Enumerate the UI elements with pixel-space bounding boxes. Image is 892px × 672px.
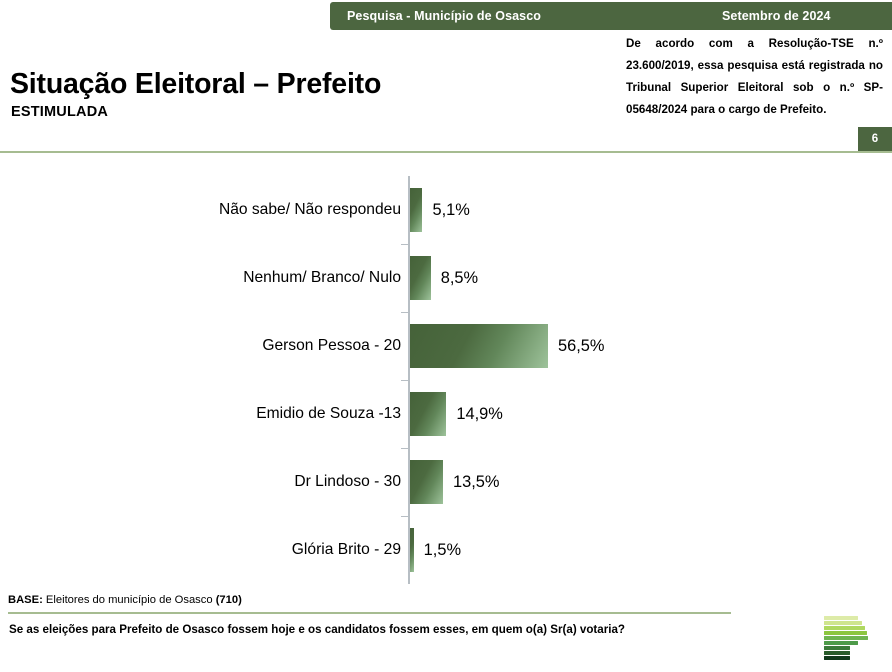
category-label: Emidio de Souza -13: [60, 405, 401, 423]
category-label: Gerson Pessoa - 20: [60, 337, 401, 355]
chart-row: Gerson Pessoa - 2056,5%: [0, 312, 892, 380]
chart-row: Dr Lindoso - 3013,5%: [0, 448, 892, 516]
chart-row: Emidio de Souza -1314,9%: [0, 380, 892, 448]
logo-bar: [824, 636, 868, 640]
bar-value-label: 8,5%: [441, 269, 478, 288]
header-date: Setembro de 2024: [722, 9, 831, 23]
bar-chart: Não sabe/ Não respondeu5,1%Nenhum/ Branc…: [0, 176, 892, 584]
header-title: Pesquisa - Município de Osasco: [347, 9, 541, 23]
bar-value-label: 13,5%: [453, 473, 499, 492]
bar: [410, 460, 443, 504]
page-subtitle: ESTIMULADA: [11, 104, 108, 120]
logo-bar: [824, 616, 858, 620]
category-label: Nenhum/ Branco/ Nulo: [60, 269, 401, 287]
category-label: Glória Brito - 29: [60, 541, 401, 559]
company-logo: [824, 616, 870, 662]
base-label: BASE:: [8, 594, 43, 606]
chart-row: Nenhum/ Branco/ Nulo8,5%: [0, 244, 892, 312]
footer-divider: [8, 612, 731, 614]
bar: [410, 256, 431, 300]
logo-bar: [824, 626, 865, 630]
bar-value-label: 1,5%: [424, 541, 461, 560]
bar: [410, 188, 422, 232]
logo-bar: [824, 621, 862, 625]
header-bar: Pesquisa - Município de Osasco Setembro …: [330, 2, 892, 30]
chart-row: Glória Brito - 291,5%: [0, 516, 892, 584]
title-divider: [0, 151, 892, 153]
bar: [410, 528, 414, 572]
logo-bar: [824, 651, 850, 655]
base-description: Eleitores do município de Osasco: [46, 594, 213, 606]
logo-bar: [824, 631, 867, 635]
logo-bar: [824, 656, 850, 660]
bar: [410, 324, 548, 368]
bar: [410, 392, 446, 436]
logo-bar: [824, 641, 858, 645]
base-count: (710): [216, 594, 242, 606]
bar-value-label: 5,1%: [432, 201, 469, 220]
legal-notice: De acordo com a Resolução-TSE n.º 23.600…: [626, 33, 883, 121]
chart-row: Não sabe/ Não respondeu5,1%: [0, 176, 892, 244]
bar-value-label: 14,9%: [456, 405, 502, 424]
category-label: Não sabe/ Não respondeu: [60, 201, 401, 219]
bar-value-label: 56,5%: [558, 337, 604, 356]
base-line: BASE: Eleitores do município de Osasco (…: [8, 594, 242, 606]
category-label: Dr Lindoso - 30: [60, 473, 401, 491]
logo-bar: [824, 646, 850, 650]
survey-question: Se as eleições para Prefeito de Osasco f…: [9, 623, 625, 636]
page-number-badge: 6: [858, 127, 892, 151]
page-title: Situação Eleitoral – Prefeito: [10, 68, 381, 101]
